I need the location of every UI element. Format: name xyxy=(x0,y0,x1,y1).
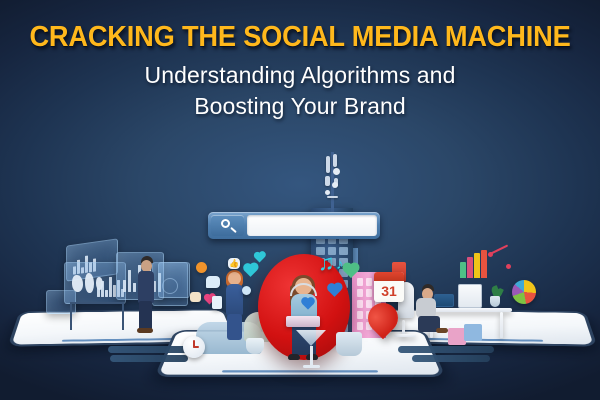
desk-leg-right xyxy=(500,312,503,338)
social-icon-chat-bubble-1 xyxy=(206,276,220,288)
laptop-screen xyxy=(434,294,454,307)
page-subtitle-line-1: Understanding Algorithms and xyxy=(0,60,600,91)
worker-shoes xyxy=(436,328,448,333)
potted-plant-pot xyxy=(336,332,362,356)
laptop-icon xyxy=(286,316,320,327)
tower-dish-3 xyxy=(325,190,330,195)
bar-chart-bar-2 xyxy=(467,257,473,278)
tower-crossbar xyxy=(327,196,338,198)
dashboard-stand-right xyxy=(122,304,124,330)
search-bar[interactable] xyxy=(208,212,380,239)
phone-woman-torso xyxy=(226,284,243,316)
analyst-at-dashboard xyxy=(62,238,190,348)
cell-tower-icon xyxy=(325,152,339,214)
heart-icon-6 xyxy=(255,253,265,263)
social-icon-mobile xyxy=(212,296,222,309)
clock-hour-hand xyxy=(193,346,199,348)
analyst-legs xyxy=(139,301,152,330)
bar-chart-bar-3 xyxy=(474,253,480,278)
platform-ribbon-right-2 xyxy=(412,355,490,362)
puzzle-piece-blue xyxy=(464,324,482,341)
dashboard-crossbar xyxy=(70,302,124,304)
wall-clock-icon xyxy=(183,336,205,358)
location-pin-icon xyxy=(368,303,398,341)
social-icon-thumbs-up: 👍 xyxy=(228,258,240,269)
glass-foot xyxy=(303,365,320,368)
analyst-torso xyxy=(138,271,154,303)
tower-antenna-2 xyxy=(333,154,337,167)
search-input[interactable] xyxy=(247,215,377,236)
calendar-icon: 31 xyxy=(374,272,404,302)
phone-woman-legs xyxy=(227,314,242,340)
search-button[interactable] xyxy=(211,215,244,236)
worker-at-desk xyxy=(400,250,540,350)
tower-antenna-3 xyxy=(325,176,330,186)
social-icon-dot xyxy=(242,286,251,295)
tower-antenna-1 xyxy=(326,156,330,173)
social-icon-note xyxy=(190,292,201,302)
cocktail-glass-icon xyxy=(296,330,326,372)
social-media-banner: CRACKING THE SOCIAL MEDIA MACHINE Unders… xyxy=(0,0,600,400)
page-title: CRACKING THE SOCIAL MEDIA MACHINE xyxy=(14,22,587,52)
monitor-screen xyxy=(458,284,482,308)
dashboard-panel-right xyxy=(158,262,190,298)
glass-stem xyxy=(310,346,313,366)
woman-with-phone xyxy=(222,272,248,344)
page-subtitle: Understanding Algorithms and Boosting Yo… xyxy=(0,60,600,122)
social-icon-emoji xyxy=(196,262,207,273)
small-plant-pot xyxy=(246,338,264,354)
platform-ribbon-left-2 xyxy=(110,355,188,362)
analyst-shoes xyxy=(137,328,153,333)
trend-point-2 xyxy=(506,264,511,269)
glass-cup xyxy=(296,330,326,346)
music-note-icon-1: ♫ xyxy=(318,250,335,276)
page-subtitle-line-2: Boosting Your Brand xyxy=(0,91,600,122)
worker-torso xyxy=(416,298,436,318)
pin-body xyxy=(362,297,404,339)
pie-chart xyxy=(512,280,536,304)
banner-heading-block: CRACKING THE SOCIAL MEDIA MACHINE Unders… xyxy=(0,22,600,122)
calendar-header xyxy=(374,272,404,281)
dashboard-stand-left xyxy=(70,304,72,330)
tower-dish-1 xyxy=(333,168,340,175)
bar-chart-bar-4 xyxy=(481,250,487,278)
calendar-day: 31 xyxy=(374,281,404,302)
magnifier-icon xyxy=(221,219,230,228)
bar-chart-bar-1 xyxy=(460,262,466,278)
desk-plant-pot xyxy=(490,296,500,307)
tower-dish-2 xyxy=(332,182,338,188)
trend-point-1 xyxy=(488,252,493,257)
